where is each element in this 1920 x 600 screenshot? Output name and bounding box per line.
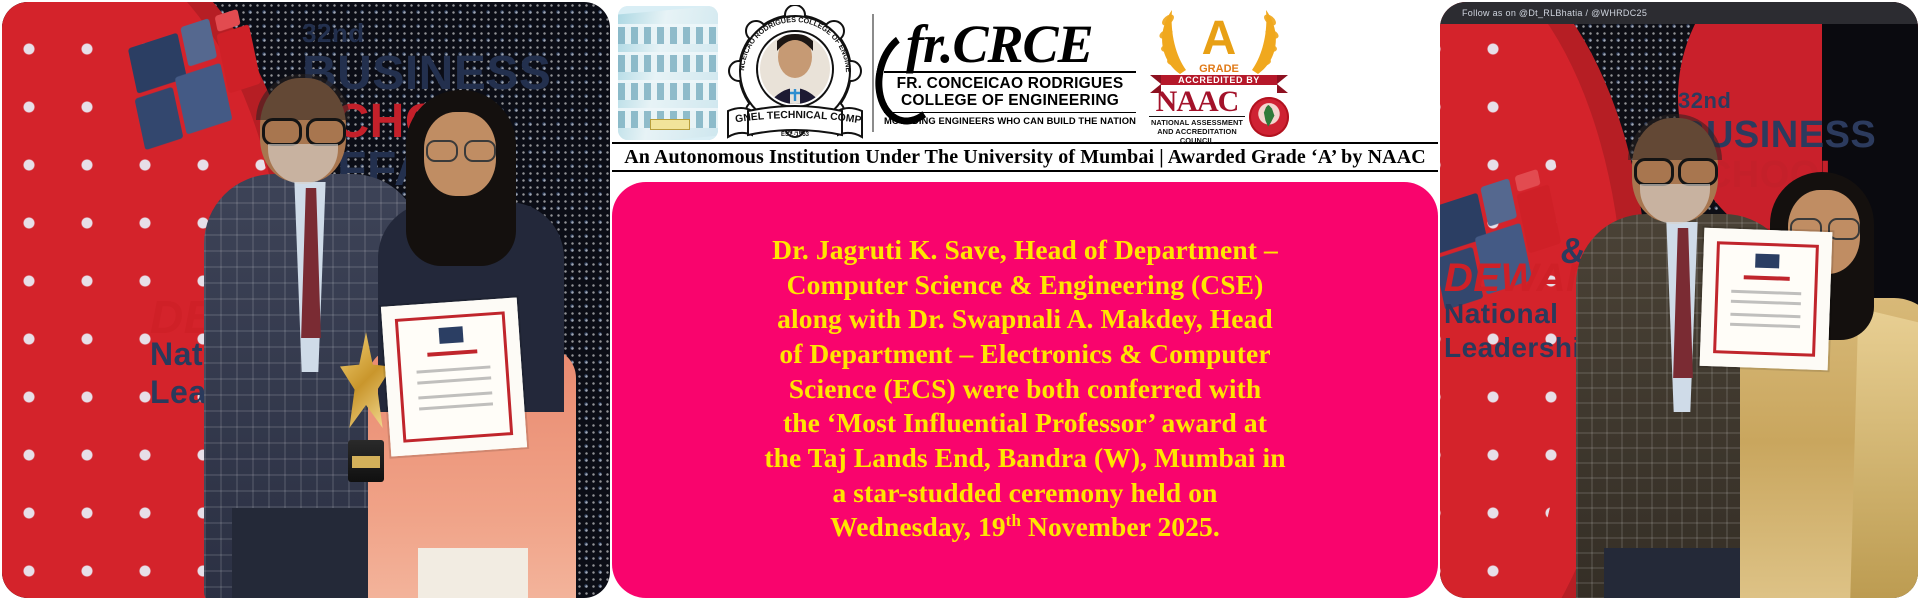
announcement-date-superscript: th bbox=[1006, 511, 1021, 530]
glasses-icon bbox=[426, 140, 496, 158]
college-crest-icon: FR. CONCEICAO RODRIGUES COLLEGE OF ENGIN… bbox=[724, 5, 866, 141]
naac-ribbon-label: ACCREDITED BY bbox=[1161, 75, 1277, 85]
announcement-line-2: Computer Science & Engineering (CSE) bbox=[787, 268, 1264, 303]
award-certificate bbox=[381, 297, 527, 456]
announcement-line-6: the ‘Most Influential Professor’ award a… bbox=[783, 406, 1267, 441]
autonomous-institution-banner: An Autonomous Institution Under The Univ… bbox=[612, 142, 1438, 172]
announcement-date-before: Wednesday, 19 bbox=[830, 511, 1006, 542]
center-column: FR. CONCEICAO RODRIGUES COLLEGE OF ENGIN… bbox=[612, 0, 1438, 600]
announcement-box: Dr. Jagruti K. Save, Head of Department … bbox=[612, 182, 1438, 598]
logo-divider bbox=[872, 14, 874, 132]
laurel-wreath-icon: A GRADE bbox=[1150, 4, 1288, 78]
announcement-line-1: Dr. Jagruti K. Save, Head of Department … bbox=[772, 233, 1278, 268]
backdrop-event-number: 32nd bbox=[1678, 88, 1731, 114]
announcement-line-5: Science (ECS) were both conferred with bbox=[789, 372, 1262, 407]
crce-logo: fr.CRCE FR. CONCEICAO RODRIGUES COLLEGE … bbox=[880, 5, 1140, 141]
glasses-icon bbox=[1632, 158, 1720, 180]
naac-full-name: NATIONAL ASSESSMENT AND ACCREDITATION CO… bbox=[1149, 116, 1245, 145]
announcement-line-9: Wednesday, 19th November 2025. bbox=[830, 510, 1220, 545]
naac-grade-letter: A bbox=[1202, 12, 1237, 65]
social-handle-text: Follow as on @Dt_RLBhatia / @WHRDC25 bbox=[1462, 8, 1647, 18]
naac-grade-label: GRADE bbox=[1199, 63, 1239, 75]
backdrop-sub1: National bbox=[1444, 298, 1558, 330]
building-nameplate bbox=[650, 119, 690, 130]
banner-text: An Autonomous Institution Under The Univ… bbox=[624, 146, 1426, 169]
campus-building-photo bbox=[618, 6, 718, 140]
announcement-line-3: along with Dr. Swapnali A. Makdey, Head bbox=[777, 302, 1273, 337]
naac-acronym: NAAC bbox=[1156, 88, 1239, 115]
naac-accreditation-badge: A GRADE ACCREDITED BY NAAC NATIONAL ASSE… bbox=[1146, 4, 1292, 142]
announcement-line-4: of Department – Electronics & Computer bbox=[779, 337, 1270, 372]
photo-left: 32nd BUSINESS SCHOOL AFFAIRE DEWANG Nati… bbox=[2, 2, 610, 598]
announcement-line-7: the Taj Lands End, Bandra (W), Mumbai in bbox=[764, 441, 1285, 476]
institution-logo-bar: FR. CONCEICAO RODRIGUES COLLEGE OF ENGIN… bbox=[612, 0, 1438, 142]
crest-established-text: EST.-1953 bbox=[781, 132, 810, 138]
naac-seal-icon bbox=[1249, 97, 1289, 137]
announcement-date-after: November 2025. bbox=[1021, 511, 1220, 542]
poster-root: 32nd BUSINESS SCHOOL AFFAIRE DEWANG Nati… bbox=[0, 0, 1920, 600]
announcement-line-8: a star-studded ceremony held on bbox=[832, 476, 1217, 511]
announcement-wrapper: Dr. Jagruti K. Save, Head of Department … bbox=[612, 172, 1438, 600]
glasses-icon bbox=[260, 118, 348, 140]
backdrop-event-number: 32nd bbox=[302, 18, 365, 49]
award-certificate bbox=[1700, 228, 1833, 370]
photo-right: Follow as on @Dt_RLBhatia / @WHRDC25 32n… bbox=[1440, 2, 1918, 598]
